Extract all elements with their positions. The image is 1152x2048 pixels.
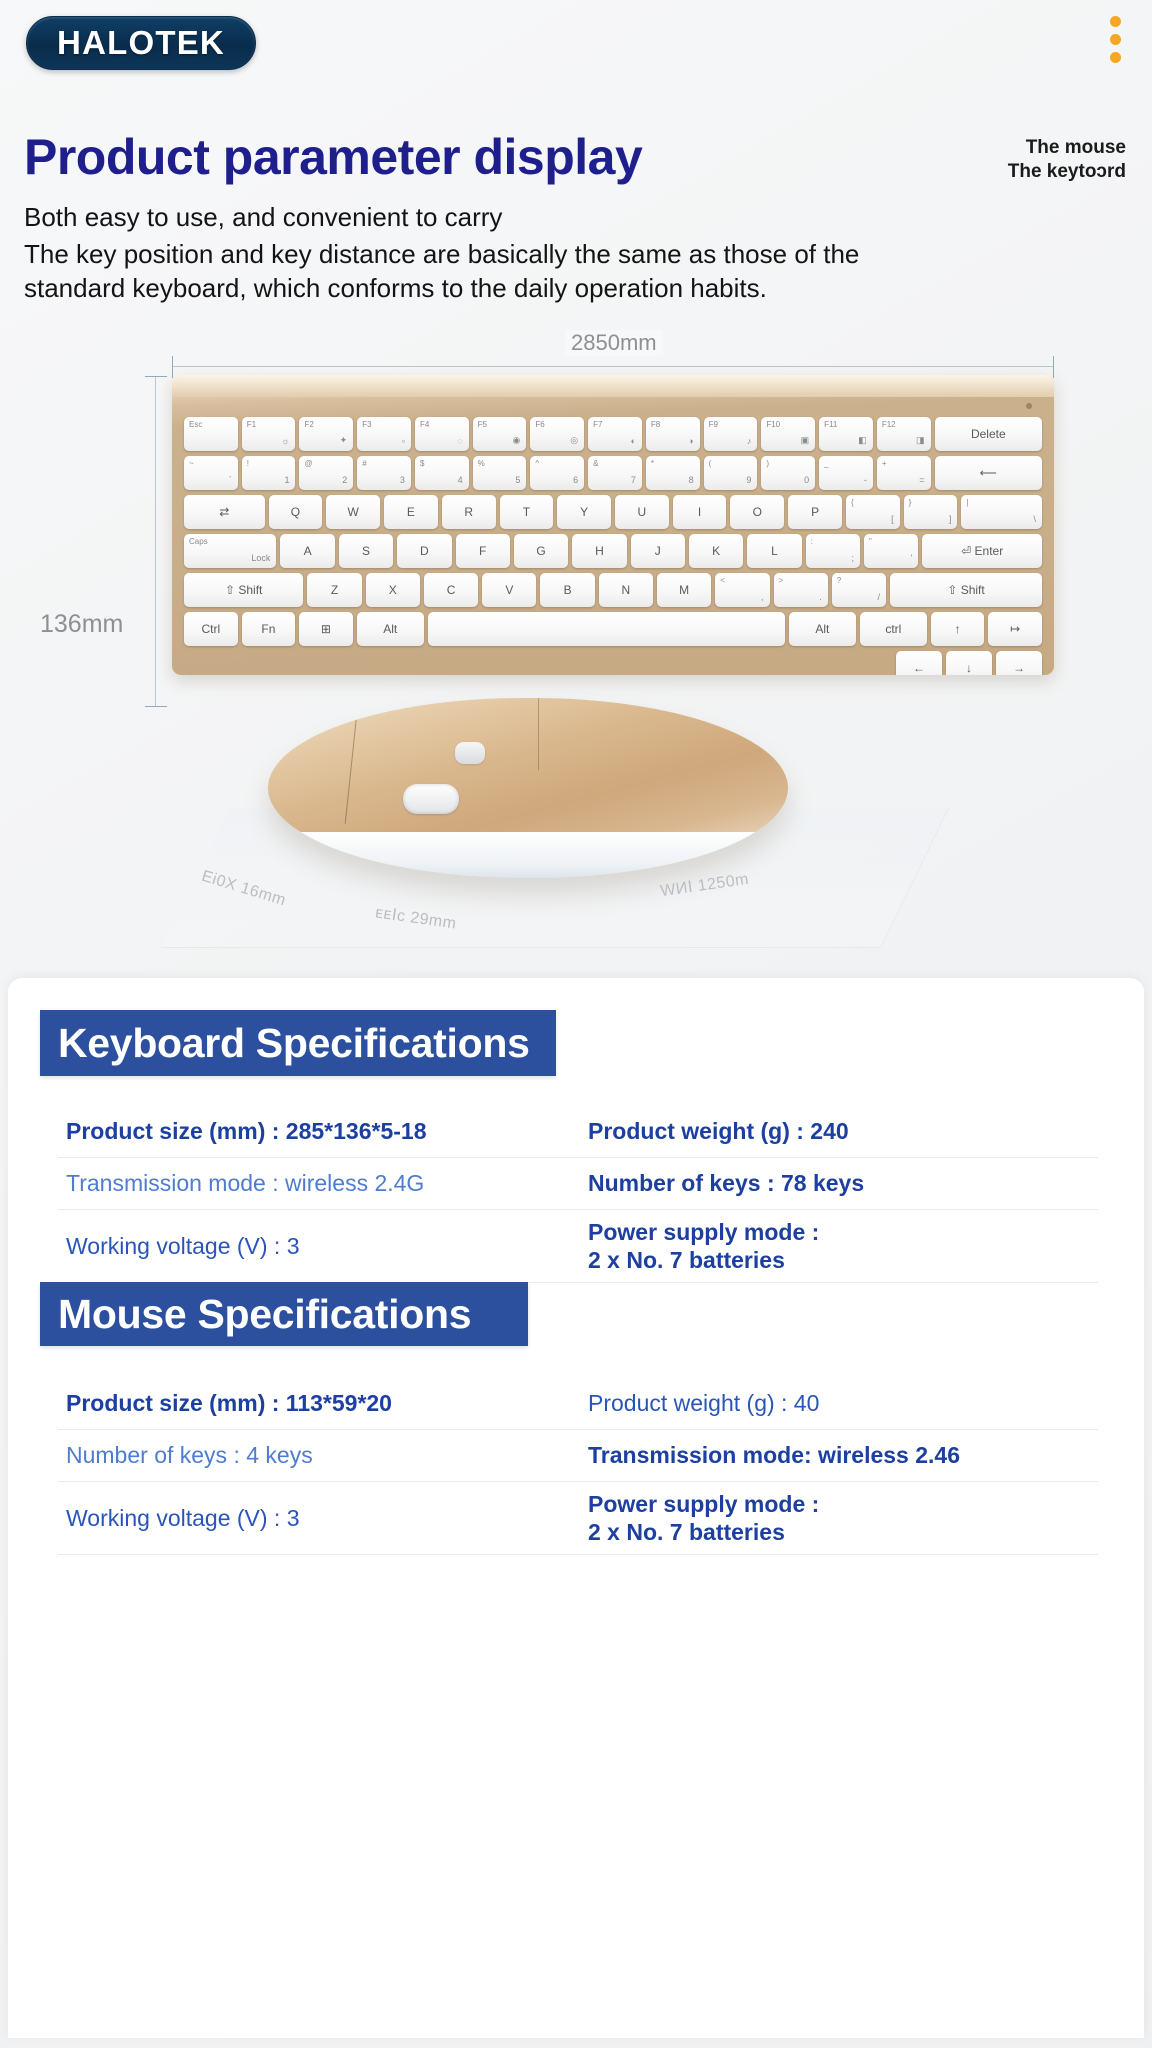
keyboard-row-bottom: Ctrl Fn ⊞ Alt Alt ctrl ↑ ↦: [184, 612, 1042, 646]
key: V: [482, 573, 536, 607]
key: F9♪: [704, 417, 758, 451]
dot-icon: [1110, 34, 1121, 45]
spec-number-of-keys: Number of keys : 78 keys: [578, 1161, 1098, 1205]
keyboard-row-number: ~` !1 @2 #3 $4 %5 ^6 &7 *8 (9 )0 _- += ⟵: [184, 456, 1042, 490]
spec-product-weight: Product weight (g) : 40: [578, 1381, 1098, 1425]
dot-icon: [1110, 16, 1121, 27]
key: A: [280, 534, 334, 568]
keyboard-row-qwerty: ⇄ Q W E R T Y U I O P {[ }] |\: [184, 495, 1042, 529]
key: Fn: [242, 612, 296, 646]
keyboard-specifications-table: Product size (mm) : 285*136*5-18 Product…: [58, 1106, 1098, 1283]
key: Q: [269, 495, 323, 529]
key: W: [326, 495, 380, 529]
mouse-button-split-line: [345, 704, 359, 823]
key: {[: [846, 495, 900, 529]
specifications-panel: Keyboard Specifications Product size (mm…: [8, 978, 1144, 2038]
key: G: [514, 534, 568, 568]
mouse-scroll-wheel: [403, 784, 459, 814]
keyboard-specifications-banner: Keyboard Specifications: [40, 1010, 556, 1076]
spec-power-supply-mode: Power supply mode : 2 x No. 7 batteries: [578, 1482, 1098, 1554]
key: ⏎ Enter: [922, 534, 1042, 568]
mouse-seam-line: [538, 698, 539, 770]
corner-note-line-2: The keytoɔrd: [1008, 160, 1126, 184]
key: E: [384, 495, 438, 529]
key: F: [456, 534, 510, 568]
key: <,: [715, 573, 769, 607]
brand-logo: HALOTEK: [26, 16, 256, 70]
spec-transmission-mode: Transmission mode: wireless 2.46: [578, 1433, 1098, 1477]
spec-transmission-mode: Transmission mode : wireless 2.4G: [58, 1161, 578, 1205]
keyboard-row-shift: ⇧ Shift Z X C V B N M <, >. ?/ ⇧ Shift: [184, 573, 1042, 607]
key: N: [599, 573, 653, 607]
key: F3▫: [357, 417, 411, 451]
keyboard-key-rows: Esc F1☼ F2✦ F3▫ F4◌ F5◉ F6◎ F7◐ F8◑ F9♪ …: [184, 417, 1042, 675]
key: H: [572, 534, 626, 568]
key: "': [864, 534, 918, 568]
key: %5: [473, 456, 527, 490]
key: F6◎: [530, 417, 584, 451]
keyboard-indicator-led: [1026, 403, 1032, 409]
key: F7◐: [588, 417, 642, 451]
brand-logo-text: HALOTEK: [57, 24, 225, 62]
key: F10▣: [761, 417, 815, 451]
key: Y: [557, 495, 611, 529]
keyboard-photo-block: 2850mm 136mm Esc F1☼ F2✦ F3▫ F4◌ F5◉ F6◎…: [0, 330, 1152, 675]
key: F5◉: [473, 417, 527, 451]
key: I: [673, 495, 727, 529]
key: CapsLock: [184, 534, 276, 568]
key: X: [366, 573, 420, 607]
keyboard-height-dimension-line: [155, 376, 156, 706]
key: B: [540, 573, 594, 607]
key: >.: [774, 573, 828, 607]
key: M: [657, 573, 711, 607]
key: Delete: [935, 417, 1042, 451]
key: S: [339, 534, 393, 568]
spec-product-size: Product size (mm) : 285*136*5-18: [58, 1109, 578, 1153]
spec-product-size: Product size (mm) : 113*59*20: [58, 1381, 578, 1425]
key: F2✦: [299, 417, 353, 451]
orange-dots-decoration: [1110, 16, 1121, 63]
key: (9: [704, 456, 758, 490]
table-row: Working voltage (V) : 3 Power supply mod…: [58, 1482, 1098, 1555]
key-arrow-left: ←: [896, 651, 942, 675]
key-arrow-right-top: ↦: [988, 612, 1042, 646]
key: F11◧: [819, 417, 873, 451]
key: D: [397, 534, 451, 568]
keyboard-image: Esc F1☼ F2✦ F3▫ F4◌ F5◉ F6◎ F7◐ F8◑ F9♪ …: [172, 375, 1054, 675]
key: _-: [819, 456, 873, 490]
key-arrow-right: →: [996, 651, 1042, 675]
table-row: Product size (mm) : 285*136*5-18 Product…: [58, 1106, 1098, 1158]
key-space: [428, 612, 785, 646]
spec-working-voltage: Working voltage (V) : 3: [58, 1224, 578, 1268]
spec-working-voltage: Working voltage (V) : 3: [58, 1496, 578, 1540]
key: +=: [877, 456, 931, 490]
key: :;: [806, 534, 860, 568]
product-parameter-page: HALOTEK Product parameter display The mo…: [0, 0, 1152, 2048]
key: ⇧ Shift: [184, 573, 303, 607]
lead-line-2: The key position and key distance are ba…: [24, 237, 894, 306]
keyboard-height-label: 136mm: [40, 610, 123, 639]
keyboard-row-function: Esc F1☼ F2✦ F3▫ F4◌ F5◉ F6◎ F7◐ F8◑ F9♪ …: [184, 417, 1042, 451]
spec-number-of-keys: Number of keys : 4 keys: [58, 1433, 578, 1477]
table-row: Product size (mm) : 113*59*20 Product we…: [58, 1378, 1098, 1430]
keyboard-specifications-title: Keyboard Specifications: [58, 1020, 530, 1067]
key: K: [689, 534, 743, 568]
spec-product-weight: Product weight (g) : 240: [578, 1109, 1098, 1153]
key: ⟵: [935, 456, 1042, 490]
key: F1☼: [242, 417, 296, 451]
key: }]: [904, 495, 958, 529]
key: &7: [588, 456, 642, 490]
page-title: Product parameter display: [24, 128, 642, 186]
mouse-image: [268, 698, 788, 878]
key: *8: [646, 456, 700, 490]
key: ctrl: [860, 612, 927, 646]
lead-line-1: Both easy to use, and convenient to carr…: [24, 202, 502, 232]
key: Alt: [357, 612, 424, 646]
key: #3: [357, 456, 411, 490]
keyboard-top-edge: [172, 375, 1054, 397]
key-arrow-up: ↑: [931, 612, 985, 646]
key: J: [631, 534, 685, 568]
key: C: [424, 573, 478, 607]
key: F8◑: [646, 417, 700, 451]
key: @2: [299, 456, 353, 490]
key-arrow-down: ↓: [946, 651, 992, 675]
mouse-dpi-button: [455, 742, 485, 764]
table-row: Transmission mode : wireless 2.4G Number…: [58, 1158, 1098, 1210]
key: ⊞: [299, 612, 353, 646]
key: L: [747, 534, 801, 568]
key: !1: [242, 456, 296, 490]
key: R: [442, 495, 496, 529]
key: Z: [307, 573, 361, 607]
keyboard-row-home: CapsLock A S D F G H J K L :; "' ⏎ Enter: [184, 534, 1042, 568]
key: ⇄: [184, 495, 265, 529]
key: )0: [761, 456, 815, 490]
key: Alt: [789, 612, 856, 646]
key: O: [730, 495, 784, 529]
keyboard-row-arrows: ← ↓ →: [184, 651, 1042, 675]
spec-power-supply-mode: Power supply mode : 2 x No. 7 batteries: [578, 1210, 1098, 1282]
corner-note: The mouse The keytoɔrd: [1008, 136, 1126, 184]
key: ^6: [530, 456, 584, 490]
key: ?/: [832, 573, 886, 607]
mouse-specifications-banner: Mouse Specifications: [40, 1282, 528, 1346]
mouse-specifications-table: Product size (mm) : 113*59*20 Product we…: [58, 1378, 1098, 1555]
keyboard-height-tick-top: [145, 376, 167, 377]
table-row: Working voltage (V) : 3 Power supply mod…: [58, 1210, 1098, 1283]
key: F12◨: [877, 417, 931, 451]
key: F4◌: [415, 417, 469, 451]
key: P: [788, 495, 842, 529]
key: U: [615, 495, 669, 529]
mouse-photo-block: Ei0X 16mm ᴇᴇⅠᴄ 29mm WИⅠ 1250m: [0, 690, 1152, 970]
lead-paragraph: Both easy to use, and convenient to carr…: [24, 200, 894, 306]
key: ~`: [184, 456, 238, 490]
keyboard-width-label: 2850mm: [565, 330, 663, 356]
key: |\: [961, 495, 1042, 529]
key: Esc: [184, 417, 238, 451]
key: T: [500, 495, 554, 529]
key: ⇧ Shift: [890, 573, 1042, 607]
keyboard-width-dimension-line: [172, 366, 1054, 367]
mouse-specifications-title: Mouse Specifications: [58, 1291, 471, 1338]
corner-note-line-1: The mouse: [1008, 136, 1126, 160]
key: $4: [415, 456, 469, 490]
key: Ctrl: [184, 612, 238, 646]
table-row: Number of keys : 4 keys Transmission mod…: [58, 1430, 1098, 1482]
dot-icon: [1110, 52, 1121, 63]
